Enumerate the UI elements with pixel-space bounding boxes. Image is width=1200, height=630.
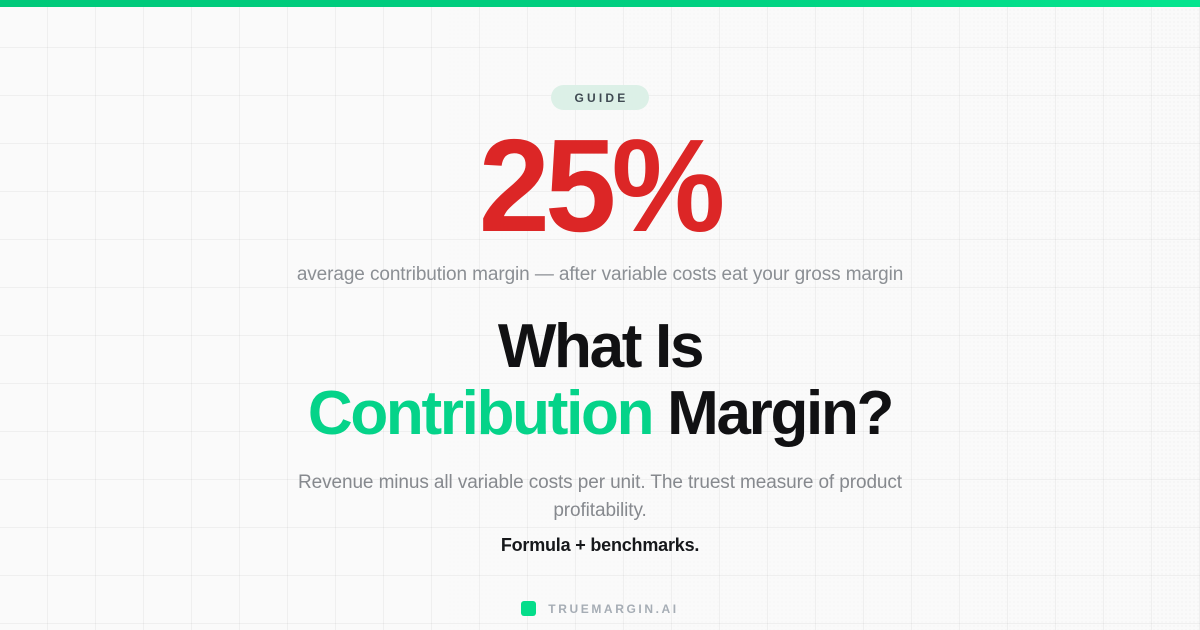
headline-line-1: What Is — [308, 314, 892, 381]
card-content: GUIDE 25% average contribution margin — … — [0, 0, 1200, 630]
stat-value: 25% — [479, 132, 721, 240]
page-title: What Is Contribution Margin? — [308, 314, 892, 448]
guide-badge: GUIDE — [551, 85, 648, 110]
headline-line-2: Contribution Margin? — [308, 381, 892, 448]
kicker-text: Formula + benchmarks. — [501, 535, 699, 556]
headline-trailing-word: Margin? — [667, 379, 892, 448]
stat-caption: average contribution margin — after vari… — [297, 263, 903, 288]
headline-accent-word: Contribution — [308, 379, 652, 448]
top-accent-bar — [0, 0, 1200, 7]
description-text: Revenue minus all variable costs per uni… — [270, 469, 930, 526]
guide-card-canvas: GUIDE 25% average contribution margin — … — [0, 0, 1200, 630]
